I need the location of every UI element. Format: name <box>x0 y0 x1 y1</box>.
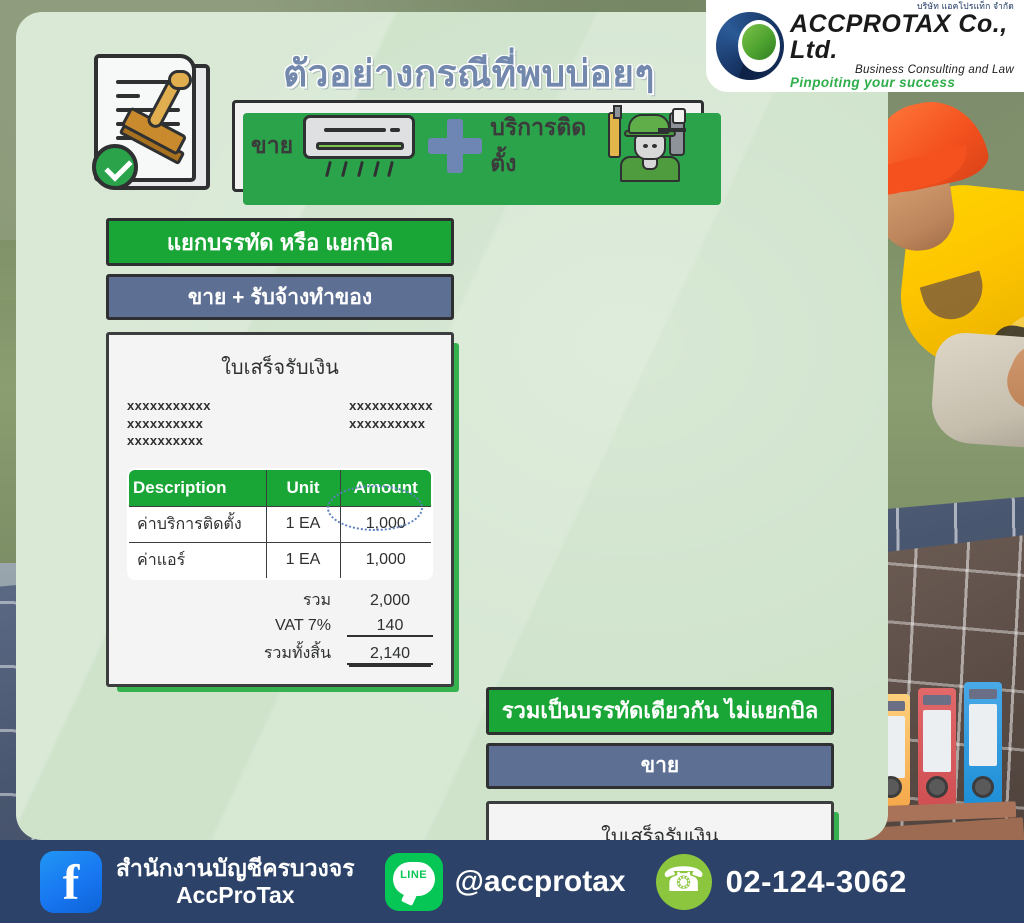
subtitle-bar: ขาย บริการติดตั้ง <box>232 100 704 192</box>
facebook-line1: สำนักงานบัญชีครบวงจร <box>116 855 355 881</box>
subtitle-service-label: บริการติดตั้ง <box>490 110 600 182</box>
facebook-icon[interactable] <box>40 851 102 913</box>
column-blue-header: ขาย <box>486 743 834 789</box>
col-description: Description <box>128 469 266 507</box>
logo-subtitle: Business Consulting and Law <box>790 64 1014 76</box>
receipt-right: ใบเสร็จรับเงิน xxxxxxxxxxx xxxxxxxxxx xx… <box>486 801 834 840</box>
receipt-placeholder-block: xxxxxxxxxxx xxxxxxxxxx xxxxxxxxxx xxxxxx… <box>127 397 433 450</box>
binders-group <box>872 688 1012 820</box>
contact-footer: สำนักงานบัญชีครบวงจร AccProTax LINE @acc… <box>0 840 1024 923</box>
facebook-line2: AccProTax <box>116 882 355 908</box>
total-row: รวม 2,000 <box>127 588 433 613</box>
table-row: ค่าแอร์ 1 EA 1,000 <box>128 542 432 579</box>
cell-amount: 1,000 <box>340 542 432 579</box>
column-blue-header: ขาย + รับจ้างทำของ <box>106 274 454 320</box>
total-value: 2,140 <box>347 645 433 665</box>
receipt-x-right: xxxxxxxxxxx xxxxxxxxxx <box>349 397 433 450</box>
table-header-row: Description Unit Amount <box>128 469 432 507</box>
phone-number: 02-124-3062 <box>726 864 907 900</box>
receipt-left: ใบเสร็จรับเงิน xxxxxxxxxxx xxxxxxxxxx xx… <box>106 332 454 687</box>
stamp-knob <box>168 70 192 90</box>
column-combined: รวมเป็นบรรทัดเดียวกัน ไม่แยกบิล ขาย ใบเส… <box>486 687 834 840</box>
col-amount: Amount <box>340 469 432 507</box>
total-value: 140 <box>347 617 433 637</box>
page-title: ตัวอย่างกรณีที่พบบ่อยๆ <box>254 44 684 103</box>
column-green-header: แยกบรรทัด หรือ แยกบิล <box>106 218 454 266</box>
total-label: รวม <box>197 588 347 613</box>
logo-tagline: Pinpoiting your success <box>790 76 1014 90</box>
cell-unit: 1 EA <box>266 506 340 542</box>
total-label: รวมทั้งสิ้น <box>197 641 347 666</box>
total-label: VAT 7% <box>197 617 347 635</box>
binder-red <box>918 688 956 806</box>
column-separate: แยกบรรทัด หรือ แยกบิล ขาย + รับจ้างทำของ… <box>106 218 454 687</box>
air-conditioner-icon <box>303 115 404 177</box>
logo-company-name: ACCPROTAX Co., Ltd. <box>790 11 1014 64</box>
line-icon-word: LINE <box>385 869 443 881</box>
screwdriver-icon <box>608 112 621 158</box>
facebook-name: สำนักงานบัญชีครบวงจร AccProTax <box>116 855 355 908</box>
document-stamp-icon <box>82 48 232 200</box>
cell-description: ค่าแอร์ <box>128 542 266 579</box>
phone-icon[interactable] <box>656 854 712 910</box>
plus-icon <box>428 119 477 173</box>
infographic-card: ตัวอย่างกรณีที่พบบ่อยๆ ขาย บริการติดตั้ง… <box>16 12 888 840</box>
column-green-header: รวมเป็นบรรทัดเดียวกัน ไม่แยกบิล <box>486 687 834 735</box>
technician-icon <box>606 110 685 182</box>
binder-blue <box>964 682 1002 806</box>
receipt-title: ใบเสร็จรับเงิน <box>507 820 813 840</box>
cell-unit: 1 EA <box>266 542 340 579</box>
check-circle-icon <box>92 144 138 190</box>
receipt-title: ใบเสร็จรับเงิน <box>127 351 433 383</box>
receipt-table: Description Unit Amount ค่าบริการติดตั้ง… <box>127 468 433 580</box>
accprotax-logo-icon <box>714 10 786 82</box>
line-icon[interactable]: LINE <box>385 853 443 911</box>
total-row: รวมทั้งสิ้น 2,140 <box>127 641 433 666</box>
line-id: @accprotax <box>455 865 626 899</box>
cell-description: ค่าบริการติดตั้ง <box>128 506 266 542</box>
receipt-x-left: xxxxxxxxxxx xxxxxxxxxx xxxxxxxxxx <box>127 397 211 450</box>
cell-amount: 1,000 <box>340 506 432 542</box>
company-logo-plate: บริษัท แอคโปรแท็ก จำกัด ACCPROTAX Co., L… <box>706 0 1024 92</box>
logo-text-block: บริษัท แอคโปรแท็ก จำกัด ACCPROTAX Co., L… <box>790 2 1014 90</box>
table-row: ค่าบริการติดตั้ง 1 EA 1,000 <box>128 506 432 542</box>
subtitle-sell-label: ขาย <box>251 128 293 164</box>
col-unit: Unit <box>266 469 340 507</box>
total-row: VAT 7% 140 <box>127 617 433 637</box>
total-value: 2,000 <box>347 592 433 610</box>
receipt-totals: รวม 2,000 VAT 7% 140 รวมทั้งสิ้น 2,140 <box>127 588 433 666</box>
